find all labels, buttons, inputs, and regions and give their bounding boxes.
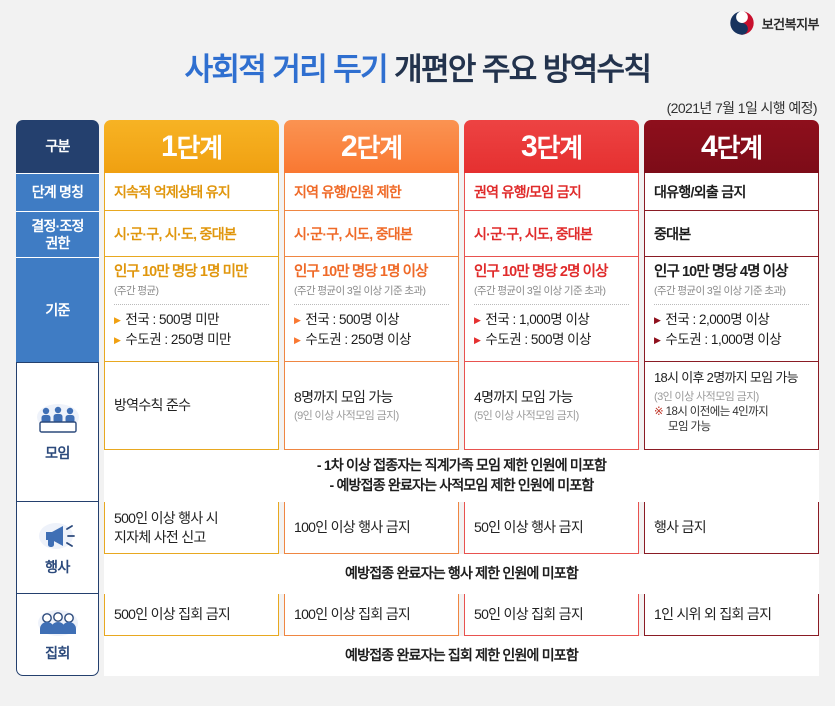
stage-1-event-text: 500인 이상 행사 시 지자체 사전 신고 (114, 509, 269, 547)
stage-3-bullet-0: 전국 : 1,000명 이상 (485, 310, 589, 330)
stage-4-event-text: 행사 금지 (654, 518, 809, 537)
bullet-triangle-icon: ▶ (294, 316, 300, 325)
stage-4-bullet-1: 수도권 : 1,000명 이상 (665, 330, 781, 350)
stage-4-event: 행사 금지 (644, 502, 819, 554)
stage-3-gathering-main: 4명까지 모임 가능 (474, 388, 629, 407)
stage-2-assembly-text: 100인 이상 집회 금지 (294, 605, 449, 624)
stage-1-authority: 시·군·구, 시·도, 중대본 (114, 224, 269, 244)
stage-2-assembly: 100인 이상 집회 금지 (284, 594, 459, 636)
stage-3-name: 권역 유행/모임 금지 (474, 182, 629, 202)
stage-1-criteria: 인구 10만 명당 1명 미만 (주간 평균) ▶전국 : 500명 미만 ▶수… (104, 257, 279, 362)
row-label-event-text: 행사 (45, 559, 70, 575)
stage-1-criteria-main: 인구 10만 명당 1명 미만 (114, 264, 269, 281)
page-title: 사회적 거리 두기 개편안 주요 방역수칙 (0, 44, 835, 89)
assembly-col-2: 100인 이상 집회 금지 (284, 594, 459, 676)
stage-2-criteria-main: 인구 10만 명당 1명 이상 (294, 264, 449, 281)
event-col-1: 500인 이상 행사 시 지자체 사전 신고 (104, 502, 279, 594)
stage-2-criteria-sub: (주간 평균이 3일 이상 기준 초과) (294, 283, 449, 298)
stage-3-assembly-text: 50인 이상 집회 금지 (474, 605, 629, 624)
stage-4-assembly-text: 1인 시위 외 집회 금지 (654, 605, 809, 624)
stage-header-2: 2단계 (284, 120, 459, 173)
korea-taegeuk-icon (729, 10, 755, 36)
stage-number-1: 1 (161, 130, 177, 164)
stage-3-authority: 시·군·구, 시도, 중대본 (474, 224, 629, 244)
stage-2-gathering-sub: (9인 이상 사적모임 금지) (294, 407, 449, 423)
stage-4-gathering-sub: (3인 이상 사적모임 금지) (654, 388, 809, 404)
stage-4-gathering-star: ※ 18시 이전에는 4인까지 (654, 405, 809, 419)
table-header-row: 구분 1단계 2단계 3단계 4단계 (16, 120, 819, 173)
stage-4-criteria-main: 인구 10만 명당 4명 이상 (654, 264, 809, 281)
stage-2-gathering: 8명까지 모임 가능 (9인 이상 사적모임 금지) (284, 362, 459, 450)
stage-2-bullet-1: 수도권 : 250명 이상 (305, 330, 411, 350)
event-col-2: 100인 이상 행사 금지 (284, 502, 459, 594)
bullet-triangle-icon: ▶ (474, 316, 480, 325)
row-label-gathering: 모임 (16, 362, 99, 502)
stage-3-event-text: 50인 이상 행사 금지 (474, 518, 629, 537)
stage-3-criteria-main: 인구 10만 명당 2명 이상 (474, 264, 629, 281)
stage-1-bullet-0: 전국 : 500명 미만 (125, 310, 219, 330)
title-highlight: 사회적 거리 두기 (185, 52, 387, 87)
stage-2-criteria: 인구 10만 명당 1명 이상 (주간 평균이 3일 이상 기준 초과) ▶전국… (284, 257, 459, 362)
stage-header-1: 1단계 (104, 120, 279, 173)
infographic-page: 보건복지부 사회적 거리 두기 개편안 주요 방역수칙 (2021년 7월 1일… (0, 0, 835, 706)
stage-2-bullet-0: 전국 : 500명 이상 (305, 310, 399, 330)
stage-header-3: 3단계 (464, 120, 639, 173)
row-label-criteria: 기준 (16, 257, 99, 362)
stage-2-event-text: 100인 이상 행사 금지 (294, 518, 449, 537)
stage-2-authority: 시·군·구, 시도, 중대본 (294, 224, 449, 244)
row-label-authority: 결정·조정 권한 (16, 211, 99, 257)
event-col-3: 50인 이상 행사 금지 (464, 502, 639, 594)
stage-3-bullet-1: 수도권 : 500명 이상 (485, 330, 591, 350)
row-stage-name: 단계 명칭 지속적 억제상태 유지 지역 유행/인원 제한 권역 유행/모임 금… (16, 173, 819, 211)
row-assembly: 집회 500인 이상 집회 금지 100인 이상 집회 금지 50인 이상 집회 (16, 594, 819, 676)
stage-number-4: 4 (701, 130, 717, 164)
event-col-4: 행사 금지 (644, 502, 819, 594)
stage-4-name: 대유행/외출 금지 (654, 182, 809, 202)
stage-number-3: 3 (521, 130, 537, 164)
stage-3-criteria: 인구 10만 명당 2명 이상 (주간 평균이 3일 이상 기준 초과) ▶전국… (464, 257, 639, 362)
stage-3-event: 50인 이상 행사 금지 (464, 502, 639, 554)
stage-3-criteria-sub: (주간 평균이 3일 이상 기준 초과) (474, 283, 629, 298)
stage-number-2: 2 (341, 130, 357, 164)
crowd-icon (35, 608, 81, 641)
stage-1-bullet-1: 수도권 : 250명 미만 (125, 330, 231, 350)
bullet-triangle-icon: ▶ (474, 336, 480, 345)
stage-header-4: 4단계 (644, 120, 819, 173)
row-label-stage-name: 단계 명칭 (16, 173, 99, 211)
stage-2-name: 지역 유행/인원 제한 (294, 182, 449, 202)
stage-4-gathering-main: 18시 이후 2명까지 모임 가능 (654, 369, 809, 387)
stage-3-assembly: 50인 이상 집회 금지 (464, 594, 639, 636)
stage-4-criteria-sub: (주간 평균이 3일 이상 기준 초과) (654, 283, 809, 298)
stage-4-gathering-star2: 모임 가능 (654, 420, 809, 434)
stage-1-gathering-main: 방역수칙 준수 (114, 396, 269, 415)
ministry-logo: 보건복지부 (729, 10, 819, 36)
megaphone-icon (36, 520, 80, 555)
bullet-triangle-icon: ▶ (654, 316, 660, 325)
stage-1-criteria-sub: (주간 평균) (114, 283, 269, 298)
assembly-col-4: 1인 시위 외 집회 금지 (644, 594, 819, 676)
gathering-col-2: 8명까지 모임 가능 (9인 이상 사적모임 금지) (284, 362, 459, 502)
stage-suffix-2: 단계 (357, 128, 402, 165)
row-label-gathering-text: 모임 (45, 445, 70, 461)
gathering-col-3: 4명까지 모임 가능 (5인 이상 사적모임 금지) (464, 362, 639, 502)
stage-1-name: 지속적 억제상태 유지 (114, 182, 269, 202)
row-label-event: 행사 (16, 502, 99, 594)
stage-1-event: 500인 이상 행사 시 지자체 사전 신고 (104, 502, 279, 554)
gathering-col-4: 18시 이후 2명까지 모임 가능 (3인 이상 사적모임 금지) ※ 18시 … (644, 362, 819, 502)
bullet-triangle-icon: ▶ (114, 316, 120, 325)
stage-1-assembly: 500인 이상 집회 금지 (104, 594, 279, 636)
gathering-col-1: 방역수칙 준수 (104, 362, 279, 502)
stage-4-authority: 중대본 (654, 224, 809, 244)
row-label-assembly-text: 집회 (45, 645, 70, 661)
row-gathering: 모임 방역수칙 준수 8명까지 모임 가능 (9인 이상 사적모임 금지) (16, 362, 819, 502)
stage-4-bullet-0: 전국 : 2,000명 이상 (665, 310, 769, 330)
title-rest: 개편안 주요 방역수칙 (394, 52, 650, 87)
bullet-triangle-icon: ▶ (654, 336, 660, 345)
stage-1-assembly-text: 500인 이상 집회 금지 (114, 605, 269, 624)
bullet-triangle-icon: ▶ (294, 336, 300, 345)
effective-date: (2021년 7월 1일 시행 예정) (667, 98, 817, 118)
stage-2-gathering-main: 8명까지 모임 가능 (294, 388, 449, 407)
bullet-triangle-icon: ▶ (114, 336, 120, 345)
row-event: 행사 500인 이상 행사 시 지자체 사전 신고 100인 이상 행사 금지 … (16, 502, 819, 594)
row-label-assembly: 집회 (16, 594, 99, 676)
row-authority: 결정·조정 권한 시·군·구, 시·도, 중대본 시·군·구, 시도, 중대본 … (16, 211, 819, 257)
people-at-table-icon (35, 403, 81, 440)
assembly-col-3: 50인 이상 집회 금지 (464, 594, 639, 676)
side-header: 구분 (16, 120, 99, 173)
stage-4-gathering: 18시 이후 2명까지 모임 가능 (3인 이상 사적모임 금지) ※ 18시 … (644, 362, 819, 450)
assembly-col-1: 500인 이상 집회 금지 (104, 594, 279, 676)
stage-1-gathering: 방역수칙 준수 (104, 362, 279, 450)
stage-suffix-4: 단계 (717, 128, 762, 165)
stage-suffix-1: 단계 (177, 128, 222, 165)
stage-3-gathering: 4명까지 모임 가능 (5인 이상 사적모임 금지) (464, 362, 639, 450)
stage-4-assembly: 1인 시위 외 집회 금지 (644, 594, 819, 636)
stage-3-gathering-sub: (5인 이상 사적모임 금지) (474, 407, 629, 423)
stage-4-criteria: 인구 10만 명당 4명 이상 (주간 평균이 3일 이상 기준 초과) ▶전국… (644, 257, 819, 362)
row-criteria: 기준 인구 10만 명당 1명 미만 (주간 평균) ▶전국 : 500명 미만… (16, 257, 819, 362)
stage-suffix-3: 단계 (537, 128, 582, 165)
stage-2-event: 100인 이상 행사 금지 (284, 502, 459, 554)
guidelines-table: 구분 1단계 2단계 3단계 4단계 단계 명칭 지속적 억제상태 유지 (16, 120, 819, 690)
ministry-name: 보건복지부 (762, 14, 819, 33)
